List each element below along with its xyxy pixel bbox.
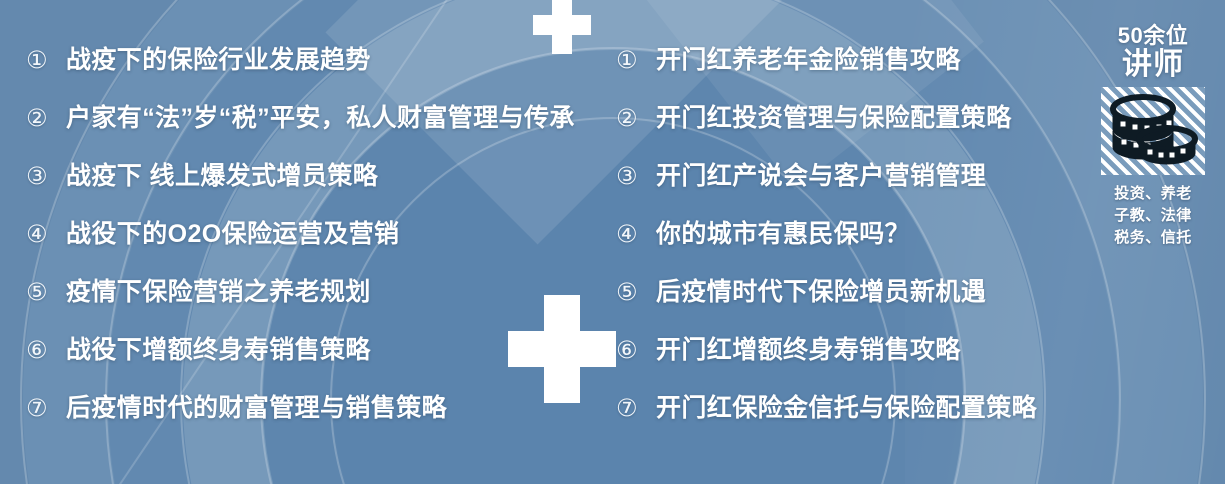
item-label: 后疫情时代的财富管理与销售策略 xyxy=(66,396,447,421)
list-item[interactable]: ① 战疫下的保险行业发展趋势 xyxy=(26,48,600,106)
list-item[interactable]: ② 户家有“法”岁“税”平安，私人财富管理与传承 xyxy=(26,106,600,164)
item-number: ② xyxy=(26,106,66,130)
lecturer-count: 50余位 xyxy=(1089,24,1217,47)
item-number: ④ xyxy=(26,222,66,246)
list-item[interactable]: ⑤ 后疫情时代下保险增员新机遇 xyxy=(616,280,1090,338)
item-number: ③ xyxy=(616,164,656,188)
item-label: 你的城市有惠民保吗？ xyxy=(656,222,910,247)
agenda-poster: ① 战疫下的保险行业发展趋势 ② 户家有“法”岁“税”平安，私人财富管理与传承 … xyxy=(0,0,1225,484)
agenda-column-left: ① 战疫下的保险行业发展趋势 ② 户家有“法”岁“税”平安，私人财富管理与传承 … xyxy=(0,0,600,484)
item-number: ③ xyxy=(26,164,66,188)
list-item[interactable]: ⑦ 开门红保险金信托与保险配置策略 xyxy=(616,396,1090,454)
lecturer-role: 讲师 xyxy=(1089,48,1217,81)
agenda-columns: ① 战疫下的保险行业发展趋势 ② 户家有“法”岁“税”平安，私人财富管理与传承 … xyxy=(0,0,1090,484)
item-number: ⑦ xyxy=(616,396,656,420)
item-label: 开门红产说会与客户营销管理 xyxy=(656,164,986,189)
list-item[interactable]: ① 开门红养老年金险销售攻略 xyxy=(616,48,1090,106)
list-item[interactable]: ② 开门红投资管理与保险配置策略 xyxy=(616,106,1090,164)
item-label: 开门红增额终身寿销售攻略 xyxy=(656,338,961,363)
list-item[interactable]: ④ 战役下的O2O保险运营及营销 xyxy=(26,222,600,280)
list-item[interactable]: ⑦ 后疫情时代的财富管理与销售策略 xyxy=(26,396,600,454)
item-number: ⑥ xyxy=(26,338,66,362)
item-label: 战役下的O2O保险运营及营销 xyxy=(66,222,399,247)
item-number: ① xyxy=(616,48,656,72)
item-number: ① xyxy=(26,48,66,72)
item-number: ⑤ xyxy=(26,280,66,304)
lecturer-info-panel: 50余位 讲师 xyxy=(1089,24,1217,250)
agenda-column-right: ① 开门红养老年金险销售攻略 ② 开门红投资管理与保险配置策略 ③ 开门红产说会… xyxy=(600,0,1090,484)
item-number: ⑥ xyxy=(616,338,656,362)
topic-tag-line: 税务、信托 xyxy=(1089,227,1217,249)
item-label: 疫情下保险营销之养老规划 xyxy=(66,280,371,305)
topic-tag-line: 子教、法律 xyxy=(1089,205,1217,227)
lecturer-topic-tags: 投资、养老 子教、法律 税务、信托 xyxy=(1089,183,1217,250)
list-item[interactable]: ③ 战疫下 线上爆发式增员策略 xyxy=(26,164,600,222)
coin-stack-icon xyxy=(1101,87,1205,175)
item-label: 开门红保险金信托与保险配置策略 xyxy=(656,396,1037,421)
item-label: 开门红投资管理与保险配置策略 xyxy=(656,106,1012,131)
item-label: 战疫下的保险行业发展趋势 xyxy=(66,48,371,73)
item-number: ⑦ xyxy=(26,396,66,420)
item-label: 战疫下 线上爆发式增员策略 xyxy=(66,164,378,189)
list-item[interactable]: ⑥ 开门红增额终身寿销售攻略 xyxy=(616,338,1090,396)
item-label: 户家有“法”岁“税”平安，私人财富管理与传承 xyxy=(66,106,575,131)
list-item[interactable]: ⑤ 疫情下保险营销之养老规划 xyxy=(26,280,600,338)
item-label: 战役下增额终身寿销售策略 xyxy=(66,338,371,363)
list-item[interactable]: ④ 你的城市有惠民保吗？ xyxy=(616,222,1090,280)
list-item[interactable]: ③ 开门红产说会与客户营销管理 xyxy=(616,164,1090,222)
item-number: ⑤ xyxy=(616,280,656,304)
topic-tag-line: 投资、养老 xyxy=(1089,183,1217,205)
item-number: ② xyxy=(616,106,656,130)
item-label: 后疫情时代下保险增员新机遇 xyxy=(656,280,986,305)
item-number: ④ xyxy=(616,222,656,246)
list-item[interactable]: ⑥ 战役下增额终身寿销售策略 xyxy=(26,338,600,396)
item-label: 开门红养老年金险销售攻略 xyxy=(656,48,961,73)
